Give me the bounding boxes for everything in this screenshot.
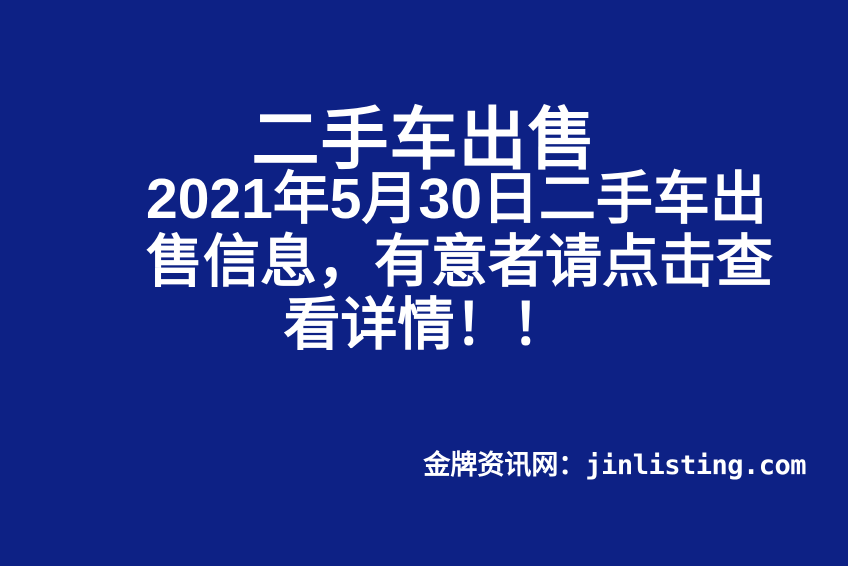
body-line-1: 2021年5月30日二手车出 [146,168,706,231]
site-url-label: jinlisting.com [585,450,806,481]
body-line-3: 看详情！！ [146,294,706,357]
used-car-sale-poster: 二手车出售 2021年5月30日二手车出 售信息，有意者请点击查 看详情！！ 金… [0,0,848,566]
body-line-2: 售信息，有意者请点击查 [146,231,706,294]
poster-body-block: 2021年5月30日二手车出 售信息，有意者请点击查 看详情！！ [146,168,706,357]
site-credit: 金牌资讯网：jinlisting.com [423,448,806,483]
site-name-label: 金牌资讯网： [423,450,585,480]
poster-footer-block: 金牌资讯网：jinlisting.com [0,448,806,483]
